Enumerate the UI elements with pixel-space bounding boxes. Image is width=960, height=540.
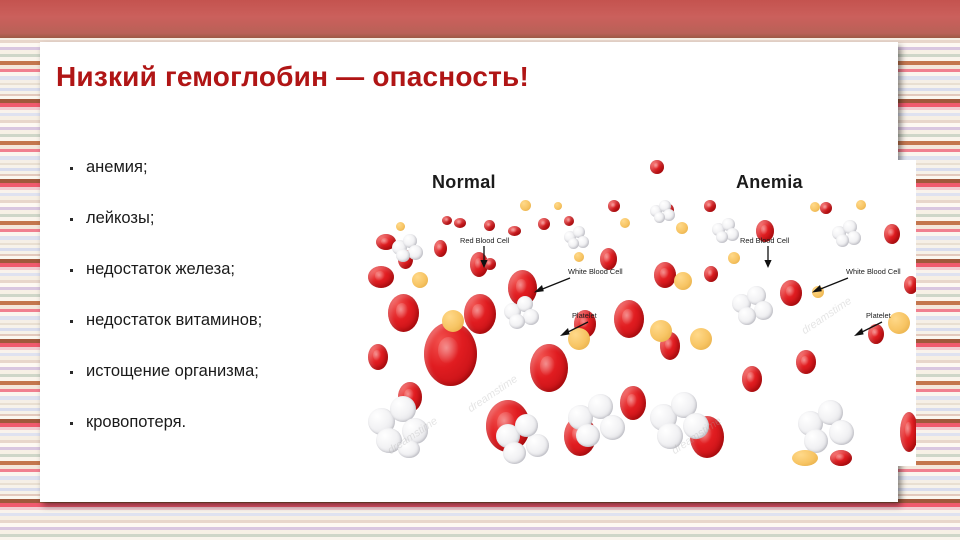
list-item: лейкозы; (56, 193, 386, 244)
arrow-red-blood-cell-anemia (760, 246, 776, 270)
label-red-blood-cell-normal: Red Blood Cell (460, 236, 509, 245)
watermark-text: dreamstime (800, 295, 854, 337)
white-blood-cell (650, 392, 710, 450)
panel-heading-anemia: Anemia (736, 172, 803, 193)
white-blood-cell (504, 296, 540, 330)
red-blood-cell (484, 220, 495, 231)
red-blood-cell (464, 294, 496, 334)
white-blood-cell (650, 200, 676, 224)
white-blood-cell (392, 234, 424, 264)
red-blood-cell (368, 344, 388, 370)
white-blood-cell (832, 220, 862, 248)
red-blood-cell (454, 218, 466, 228)
red-blood-cell (796, 350, 816, 374)
bullet-marker-icon (70, 218, 73, 221)
red-blood-cell (368, 266, 394, 288)
red-blood-cell (388, 294, 419, 332)
red-blood-cell (820, 202, 832, 214)
red-blood-cell (608, 200, 620, 212)
white-blood-cell (732, 286, 774, 326)
bullet-marker-icon (70, 422, 73, 425)
slide-canvas: Низкий гемоглобин — опасность! анемия; л… (0, 0, 960, 540)
blood-comparison-illustration: Normal Anemia (368, 160, 916, 466)
platelet (792, 450, 818, 466)
platelet (674, 272, 692, 290)
red-blood-cell (704, 266, 718, 282)
white-blood-cell (564, 226, 590, 250)
bullet-marker-icon (70, 371, 73, 374)
list-item: анемия; (56, 142, 386, 193)
list-item-label: лейкозы; (86, 209, 154, 228)
list-item-label: недостаток витаминов; (86, 311, 262, 330)
list-item: истощение организма; (56, 346, 386, 397)
list-item-label: кровопотеря. (86, 413, 186, 432)
red-blood-cell (884, 224, 900, 244)
white-blood-cell (798, 400, 854, 454)
list-item: недостаток железа; (56, 244, 386, 295)
page-title: Низкий гемоглобин — опасность! (56, 61, 816, 93)
platelet (728, 252, 740, 264)
platelet (574, 252, 584, 262)
list-item: недостаток витаминов; (56, 295, 386, 346)
list-item: кровопотеря. (56, 397, 386, 448)
top-red-band (0, 0, 960, 38)
label-white-blood-cell-anemia: White Blood Cell (846, 267, 901, 276)
arrow-white-blood-cell-normal (534, 276, 572, 294)
platelet (690, 328, 712, 350)
white-blood-cell (568, 394, 626, 448)
red-blood-cell (650, 160, 664, 174)
arrow-platelet-normal (558, 320, 590, 338)
red-blood-cell (614, 300, 644, 338)
platelet (620, 218, 630, 228)
label-red-blood-cell-anemia: Red Blood Cell (740, 236, 789, 245)
causes-bullet-list: анемия; лейкозы; недостаток железа; недо… (56, 142, 386, 448)
red-blood-cell (704, 200, 716, 212)
bullet-marker-icon (70, 167, 73, 170)
panel-heading-normal: Normal (432, 172, 496, 193)
platelet (554, 202, 562, 210)
red-blood-cell (564, 216, 574, 226)
label-platelet-normal: Platelet (572, 311, 597, 320)
arrow-white-blood-cell-anemia (812, 276, 850, 294)
arrow-red-blood-cell-normal (476, 246, 492, 270)
bullet-marker-icon (70, 320, 73, 323)
platelet (520, 200, 531, 211)
white-blood-cell (712, 218, 740, 244)
red-blood-cell (900, 412, 916, 452)
red-blood-cell (654, 262, 676, 288)
platelet (412, 272, 428, 288)
platelet (888, 312, 910, 334)
bullet-marker-icon (70, 269, 73, 272)
red-blood-cell (538, 218, 550, 230)
red-blood-cell (530, 344, 568, 392)
white-blood-cell (368, 396, 430, 454)
platelet (396, 222, 405, 231)
red-blood-cell (780, 280, 802, 306)
label-platelet-anemia: Platelet (866, 311, 891, 320)
platelet (856, 200, 866, 210)
list-item-label: недостаток железа; (86, 260, 235, 279)
red-blood-cell (434, 240, 447, 257)
red-blood-cell (442, 216, 452, 225)
red-blood-cell (904, 276, 916, 294)
red-blood-cell (508, 226, 521, 236)
arrow-platelet-anemia (852, 320, 884, 338)
platelet (810, 202, 820, 212)
platelet (650, 320, 672, 342)
platelet (442, 310, 464, 332)
red-blood-cell (742, 366, 762, 392)
platelet (676, 222, 688, 234)
list-item-label: истощение организма; (86, 362, 259, 381)
white-blood-cell (496, 414, 550, 464)
list-item-label: анемия; (86, 158, 148, 177)
label-white-blood-cell-normal: White Blood Cell (568, 267, 623, 276)
